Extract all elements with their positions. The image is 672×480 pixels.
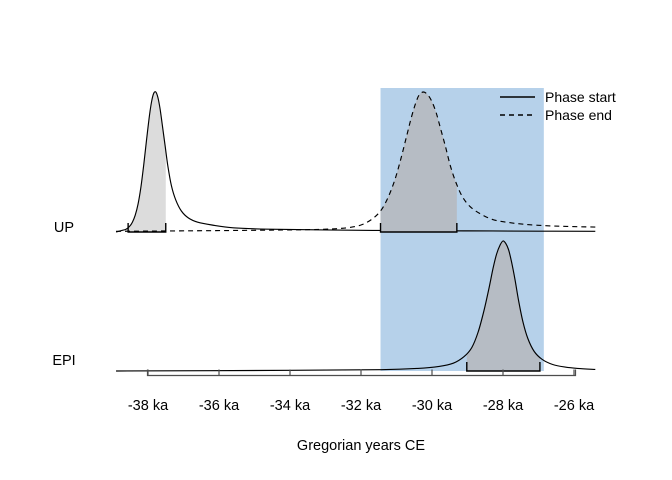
chart-container: -38 ka-36 ka-34 ka-32 ka-30 ka-28 ka-26 … [0,0,672,480]
x-axis-tick-label: -32 ka [341,398,382,414]
legend-label: Phase start [545,89,616,105]
distribution-chart: -38 ka-36 ka-34 ka-32 ka-30 ka-28 ka-26 … [0,0,672,480]
x-axis-tick-label: -30 ka [412,398,453,414]
x-axis-tick-label: -36 ka [199,398,240,414]
x-axis-tick-label: -28 ka [483,398,524,414]
row-label-epi: EPI [52,353,75,369]
row-label-up: UP [54,220,74,236]
x-axis-title: Gregorian years CE [297,438,425,454]
x-axis-tick-label: -26 ka [554,398,595,414]
x-axis-tick-label: -38 ka [128,398,169,414]
x-axis-tick-label: -34 ka [270,398,311,414]
legend-label: Phase end [545,107,612,123]
